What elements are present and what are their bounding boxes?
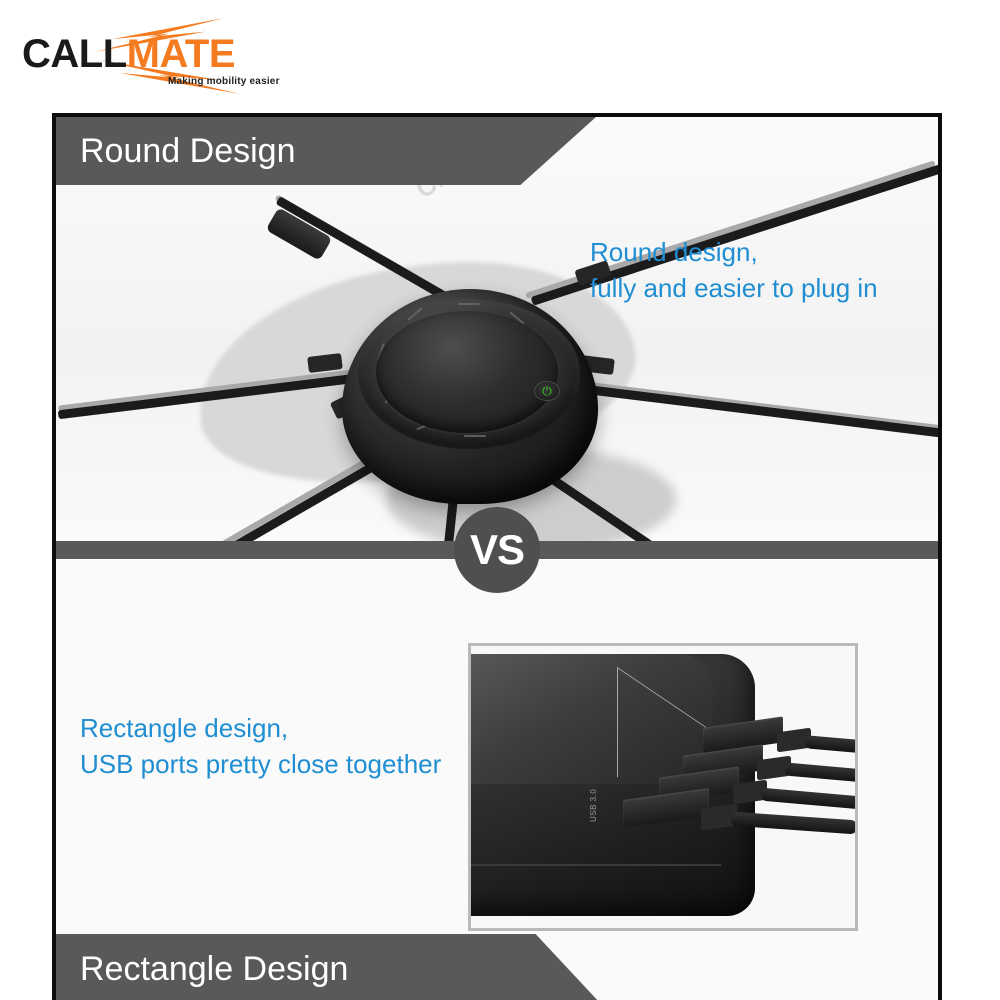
usb-cord xyxy=(761,788,858,810)
round-design-banner-label: Round Design xyxy=(80,132,295,171)
hub-tick xyxy=(458,303,480,305)
infographic-page: CALLMATE Making mobility easier CALLMATE xyxy=(0,0,1000,1000)
round-charging-hub: ⏻ xyxy=(342,289,598,504)
vs-label: VS xyxy=(470,526,524,574)
brand-name-part2: MATE xyxy=(127,32,235,76)
brand-wordmark: CALLMATE xyxy=(22,34,235,74)
usb-cord xyxy=(785,763,858,783)
brand-name-part1: CALL xyxy=(22,32,127,76)
brand-tagline: Making mobility easier xyxy=(168,76,280,87)
brand-logo: CALLMATE Making mobility easier xyxy=(22,18,322,90)
round-design-banner: Round Design xyxy=(56,117,596,185)
vs-badge: VS xyxy=(454,507,540,593)
usb-cord xyxy=(805,735,858,754)
rectangle-design-caption: Rectangle design, USB ports pretty close… xyxy=(80,711,441,783)
hub-inner-disc xyxy=(376,311,558,433)
rectangle-hub-photo: USB 3.0 xyxy=(468,643,858,931)
power-led-glyph: ⏻ xyxy=(542,385,552,397)
round-design-caption: Round design, fully and easier to plug i… xyxy=(590,235,920,307)
hub-tick xyxy=(464,435,486,437)
round-design-panel: CALLMATE xyxy=(56,117,938,545)
rectangle-design-banner-label: Rectangle Design xyxy=(80,950,348,989)
rectangle-design-banner: Rectangle Design xyxy=(56,934,601,1000)
usb-port-label: USB 3.0 xyxy=(589,789,598,822)
power-led-icon: ⏻ xyxy=(534,381,560,401)
comparison-frame: CALLMATE xyxy=(52,113,942,1000)
rect-hub-seam xyxy=(471,864,721,866)
